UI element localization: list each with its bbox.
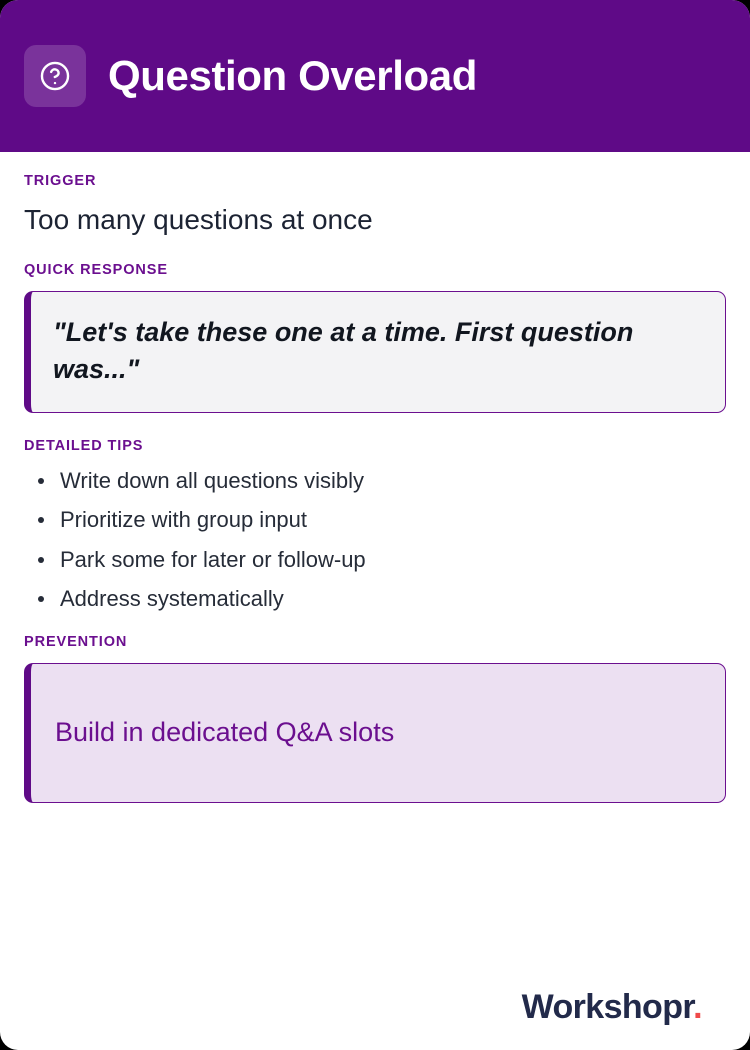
trigger-text: Too many questions at once [24,202,726,237]
prevention-label: PREVENTION [24,635,726,651]
brand-name: Workshopr [522,988,694,1026]
tip-card: Question Overload TRIGGER Too many quest… [0,0,750,1050]
list-item: Write down all questions visibly [24,467,726,495]
list-item: Address systematically [24,585,726,613]
list-item-label: Write down all questions visibly [60,468,364,493]
list-item-label: Prioritize with group input [60,507,307,532]
list-item: Park some for later or follow-up [24,546,726,574]
question-mark-circle-icon [24,45,86,107]
brand-dot: . [693,988,702,1026]
list-item: Prioritize with group input [24,506,726,534]
bullet-icon [38,478,44,484]
card-footer: Workshopr. [24,990,726,1050]
card-body: TRIGGER Too many questions at once QUICK… [0,152,750,1050]
card-header: Question Overload [0,0,750,152]
prevention-text: Build in dedicated Q&A slots [55,715,394,750]
bullet-icon [38,596,44,602]
detailed-tips-label: DETAILED TIPS [24,439,726,455]
quick-response-quote: "Let's take these one at a time. First q… [53,314,701,389]
brand-wordmark: Workshopr. [522,990,702,1024]
detailed-tips-list: Write down all questions visibly Priorit… [24,467,726,613]
quick-response-box: "Let's take these one at a time. First q… [24,291,726,414]
page-title: Question Overload [108,55,477,97]
bullet-icon [38,517,44,523]
bullet-icon [38,557,44,563]
prevention-box: Build in dedicated Q&A slots [24,663,726,803]
list-item-label: Address systematically [60,586,284,611]
trigger-label: TRIGGER [24,174,726,190]
list-item-label: Park some for later or follow-up [60,547,366,572]
quick-response-label: QUICK RESPONSE [24,263,726,279]
